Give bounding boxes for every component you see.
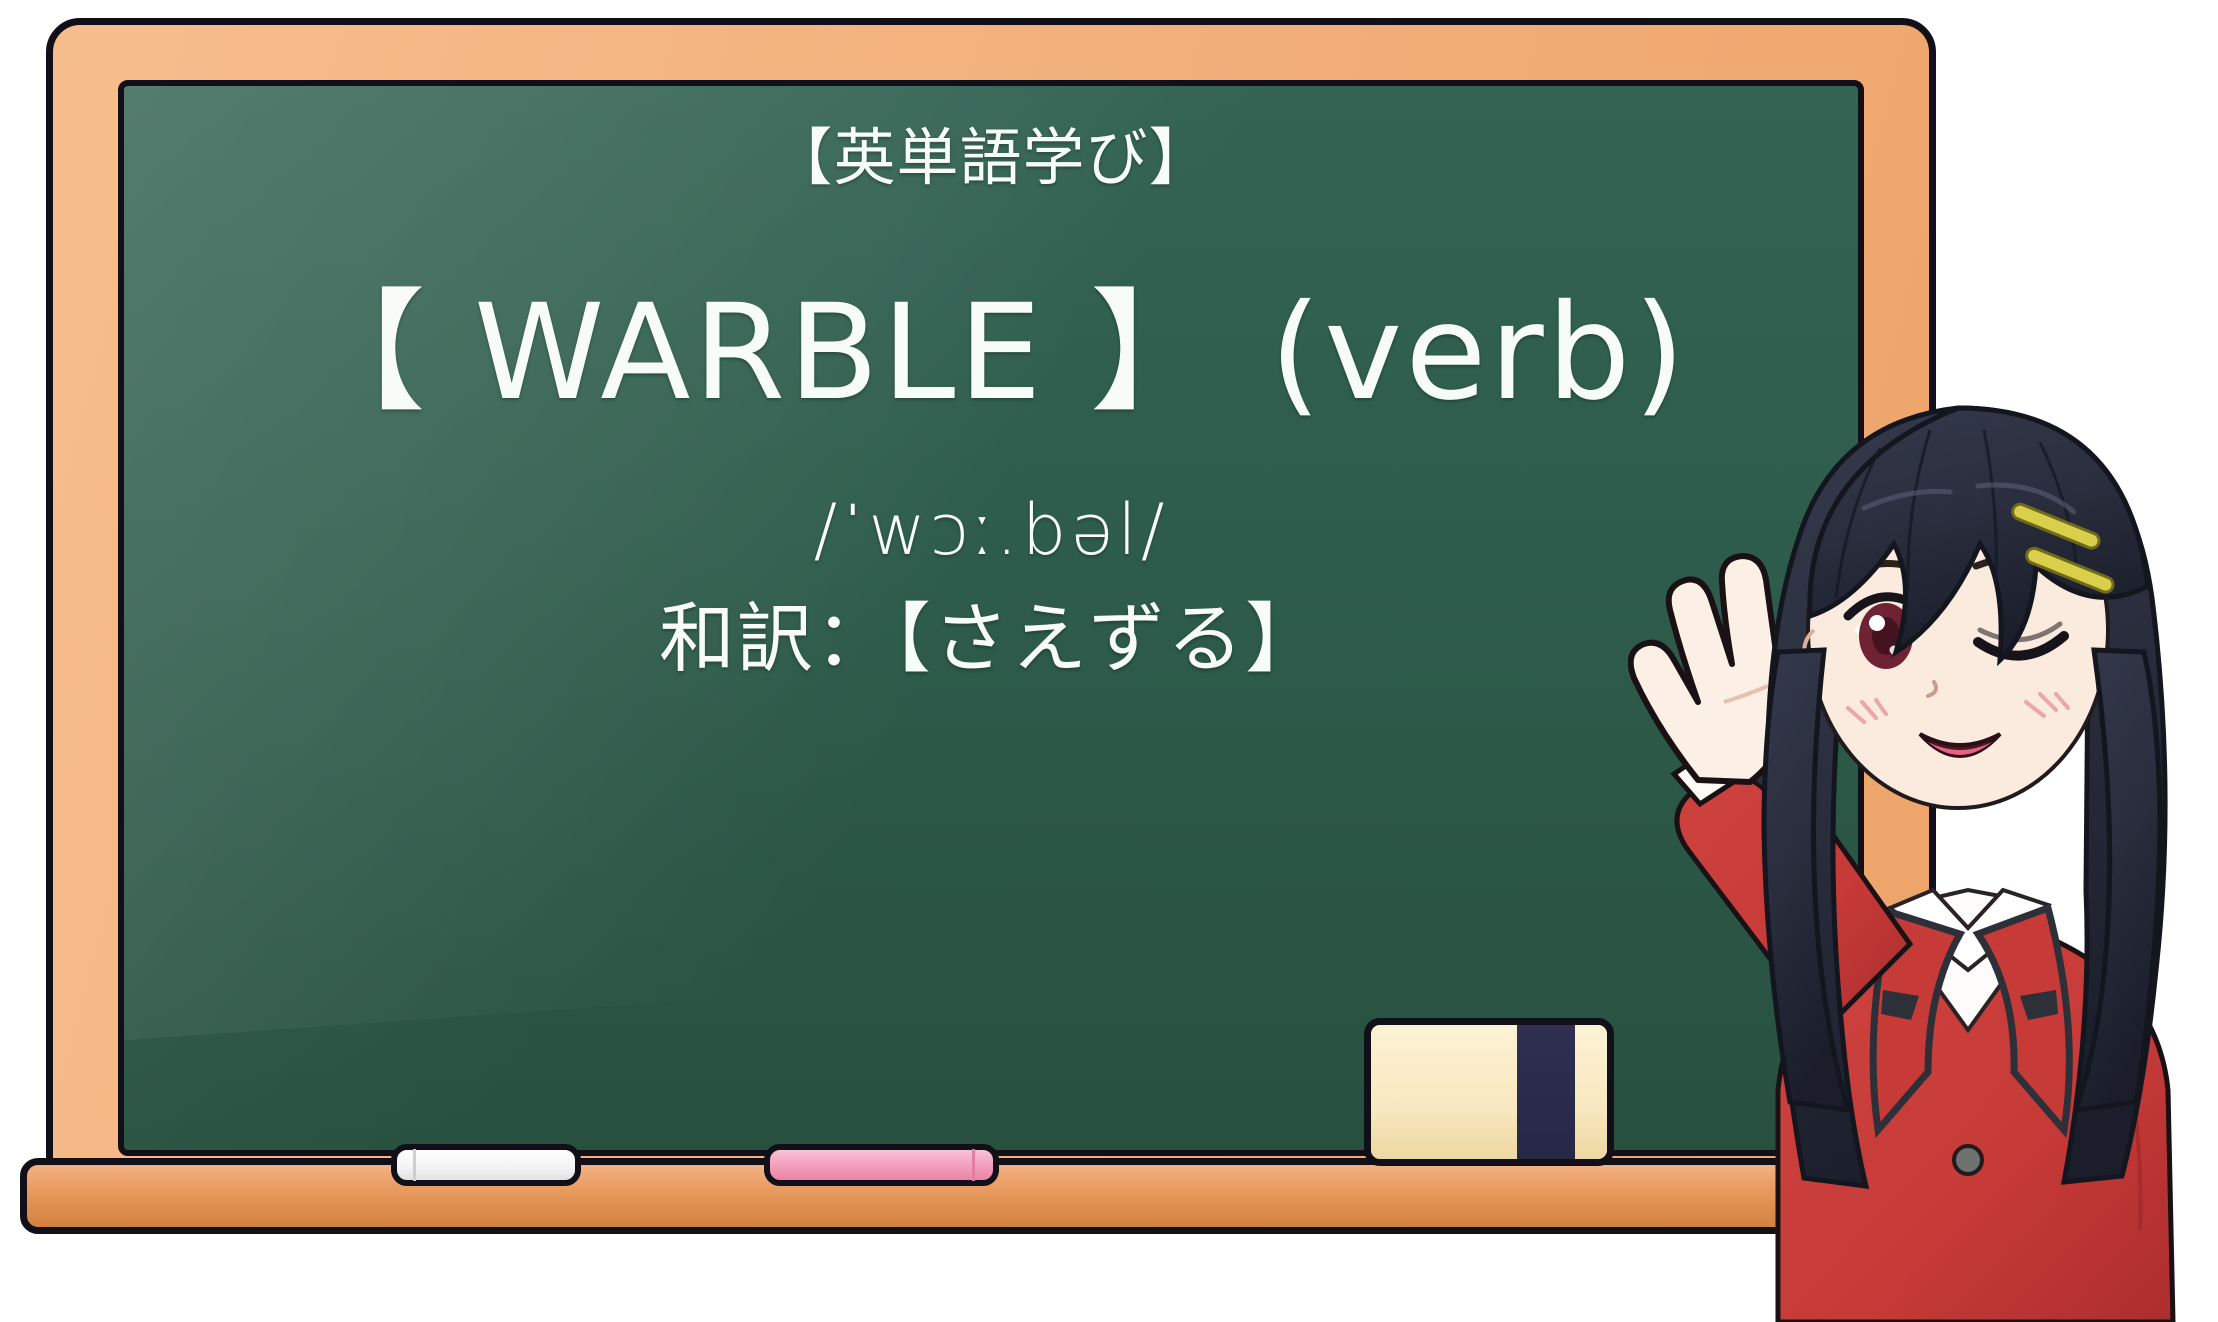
eraser-stripe — [1517, 1025, 1575, 1159]
japanese-translation: 和訳：【さえずる】 — [124, 593, 1858, 684]
blackboard-eraser — [1364, 1018, 1614, 1166]
white-chalk — [391, 1144, 581, 1186]
pronunciation-ipa: /ˈwɔː.bəl/ — [124, 490, 1858, 571]
pink-chalk — [764, 1144, 999, 1186]
vocabulary-word-line: 【 WARBLE 】 (verb) — [124, 280, 1858, 428]
headline-text: 【英単語学び】 — [124, 124, 1858, 192]
chalkboard-text-block: 【英単語学び】 【 WARBLE 】 (verb) /ˈwɔː.bəl/ 和訳：… — [124, 86, 1858, 1150]
anime-teacher-character — [1628, 330, 2218, 1322]
chalkboard-surface: 【英単語学び】 【 WARBLE 】 (verb) /ˈwɔː.bəl/ 和訳：… — [118, 80, 1864, 1156]
